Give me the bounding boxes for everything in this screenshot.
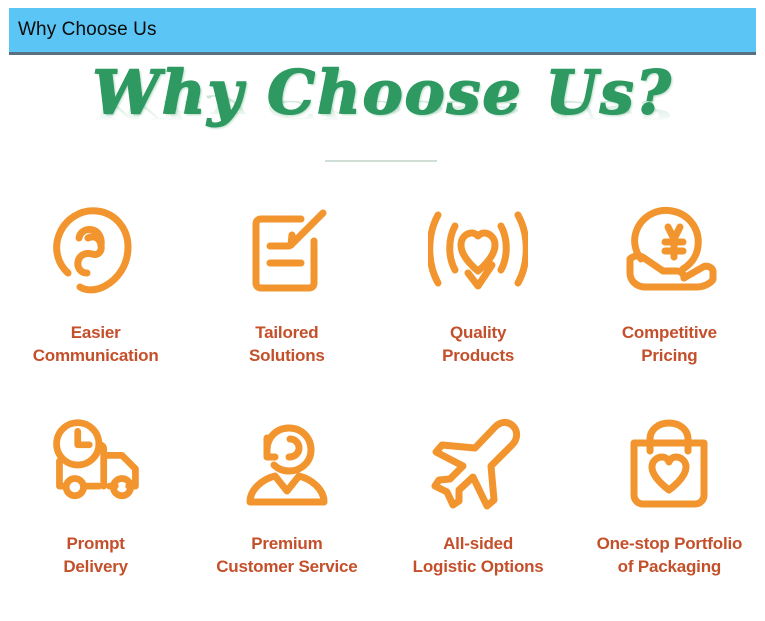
shopping-bag-heart-icon — [619, 411, 719, 519]
hero-heading: Why Choose Us? — [0, 58, 765, 128]
feature-item-one-stop-portfolio-of-packaging[interactable]: One-stop Portfolio of Packaging — [574, 411, 765, 621]
feature-label: Premium Customer Service — [216, 533, 357, 578]
feature-item-tailored-solutions[interactable]: Tailored Solutions — [191, 196, 382, 411]
feature-item-prompt-delivery[interactable]: Prompt Delivery — [0, 411, 191, 621]
hero-section: Why Choose Us? Why Choose Us? — [0, 58, 765, 168]
feature-grid: Easier Communication Tailored Solutions — [0, 196, 765, 621]
feature-label: Prompt Delivery — [63, 533, 128, 578]
heart-signal-check-icon — [428, 196, 528, 306]
headset-agent-icon — [237, 411, 337, 519]
airplane-icon — [428, 411, 528, 519]
title-banner-bar: Why Choose Us — [9, 8, 756, 52]
document-pencil-icon — [237, 196, 337, 306]
hand-holding-yen-coin-icon — [619, 196, 719, 306]
ear-listening-icon — [46, 196, 146, 306]
feature-label: All-sided Logistic Options — [413, 533, 544, 578]
title-banner-underline — [9, 52, 756, 55]
feature-item-premium-customer-service[interactable]: Premium Customer Service — [191, 411, 382, 621]
title-banner: Why Choose Us — [0, 0, 765, 56]
delivery-truck-clock-icon — [46, 411, 146, 519]
feature-label: One-stop Portfolio of Packaging — [597, 533, 743, 578]
feature-label: Quality Products — [442, 322, 514, 367]
feature-label: Competitive Pricing — [622, 322, 717, 367]
feature-item-competitive-pricing[interactable]: Competitive Pricing — [574, 196, 765, 411]
feature-label: Tailored Solutions — [249, 322, 325, 367]
hero-divider — [325, 160, 437, 162]
feature-item-all-sided-logistic-options[interactable]: All-sided Logistic Options — [383, 411, 574, 621]
feature-item-easier-communication[interactable]: Easier Communication — [0, 196, 191, 411]
feature-label: Easier Communication — [33, 322, 159, 367]
feature-item-quality-products[interactable]: Quality Products — [383, 196, 574, 411]
page-title: Why Choose Us — [9, 19, 157, 41]
